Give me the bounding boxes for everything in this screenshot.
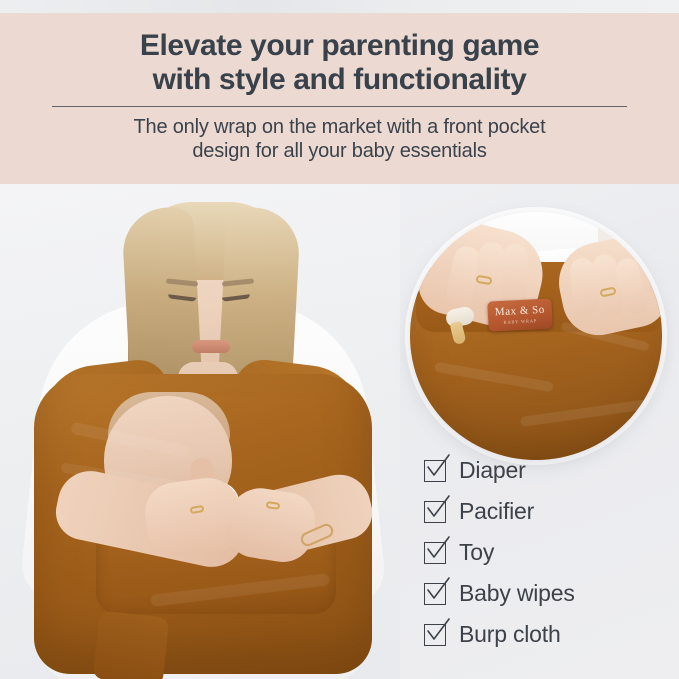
checklist-item-label: Burp cloth xyxy=(459,621,561,648)
photo-stage: Max & So BABY WRAP xyxy=(0,184,679,679)
headline-line-1: Elevate your parenting game xyxy=(140,29,539,62)
brand-patch-inset: Max & So BABY WRAP xyxy=(487,298,552,331)
inset-finger xyxy=(501,244,528,307)
main-product-photo: Max & So BABY WRAP xyxy=(0,184,400,679)
checkmark-icon[interactable] xyxy=(424,460,446,482)
brand-patch-tagline: BABY WRAP xyxy=(503,318,537,325)
subtitle-line-2: design for all your baby essentials xyxy=(30,139,650,163)
essentials-checklist: Diaper Pacifier Toy xyxy=(424,456,575,649)
header-divider xyxy=(52,106,627,107)
wrap-tail xyxy=(93,611,170,679)
page-subtitle: The only wrap on the market with a front… xyxy=(30,115,650,164)
checklist-item-label: Pacifier xyxy=(459,498,534,525)
page-title: Elevate your parenting game with style a… xyxy=(20,29,660,97)
checklist-item-label: Diaper xyxy=(459,457,526,484)
product-feature-banner: Elevate your parenting game with style a… xyxy=(0,0,679,679)
brand-patch-name: Max & So xyxy=(495,305,545,319)
header-band: Elevate your parenting game with style a… xyxy=(0,13,679,184)
checklist-item-baby-wipes[interactable]: Baby wipes xyxy=(424,579,575,608)
checklist-item-diaper[interactable]: Diaper xyxy=(424,456,575,485)
checkmark-icon[interactable] xyxy=(424,542,446,564)
subtitle-line-1: The only wrap on the market with a front… xyxy=(134,116,546,138)
checklist-item-label: Baby wipes xyxy=(459,580,575,607)
checkmark-icon[interactable] xyxy=(424,583,446,605)
headline-line-2: with style and functionality xyxy=(20,63,660,97)
checklist-item-pacifier[interactable]: Pacifier xyxy=(424,497,575,526)
checklist-item-burp-cloth[interactable]: Burp cloth xyxy=(424,620,575,649)
inset-detail-photo: Max & So BABY WRAP xyxy=(410,212,662,460)
checklist-item-label: Toy xyxy=(459,539,494,566)
checkmark-icon[interactable] xyxy=(424,501,446,523)
checkmark-icon[interactable] xyxy=(424,624,446,646)
mother-lips xyxy=(192,340,230,353)
top-edge-strip xyxy=(0,0,679,13)
checklist-item-toy[interactable]: Toy xyxy=(424,538,575,567)
